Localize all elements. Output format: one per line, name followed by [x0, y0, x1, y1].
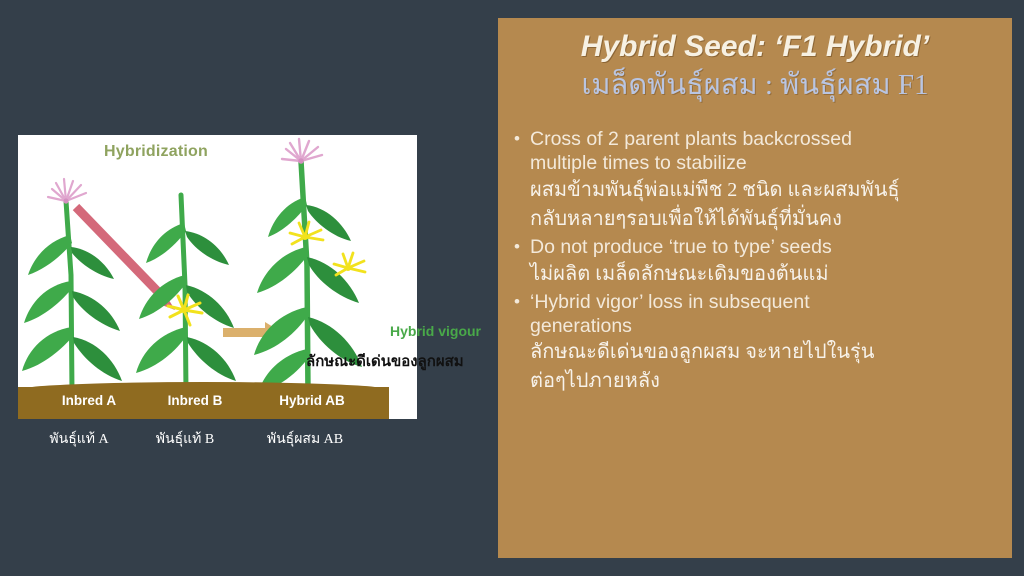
- bullet-text-en-line: generations: [530, 315, 996, 339]
- bullet-block: •‘Hybrid vigor’ loss in subsequentgenera…: [514, 291, 996, 397]
- bullet-text-en-line: Cross of 2 parent plants backcrossed: [530, 128, 996, 152]
- bullet-list: •Cross of 2 parent plants backcrossedmul…: [514, 128, 996, 396]
- bullet-text-th: ผสมข้ามพันธุ์พ่อแม่พืช 2 ชนิด และผสมพันธ…: [530, 176, 996, 234]
- bullet-text-en: ‘Hybrid vigor’ loss in subsequentgenerat…: [530, 291, 996, 339]
- bullet-text-en: Do not produce ‘true to type’ seeds: [530, 236, 996, 260]
- plant-inbred-b: [136, 195, 236, 393]
- bullet-text-th-line: กลับหลายๆรอบเพื่อให้ได้พันธุ์ที่มั่นคง: [530, 205, 996, 234]
- bullet-text-en-line: ‘Hybrid vigor’ loss in subsequent: [530, 291, 996, 315]
- bullet-item: •Cross of 2 parent plants backcrossedmul…: [514, 128, 996, 176]
- slide-title-th: เมล็ดพันธุ์ผสม : พันธุ์ผสม F1: [514, 68, 996, 103]
- plant-inbred-a: [22, 179, 122, 393]
- hybridization-diagram-image: Hybridization Hybrid vigour ลักษณะดีเด่น…: [18, 135, 417, 419]
- bullet-block: •Cross of 2 parent plants backcrossedmul…: [514, 128, 996, 234]
- bullet-text-en-line: Do not produce ‘true to type’ seeds: [530, 236, 996, 260]
- tassel-flower-ab: [282, 139, 322, 161]
- bullet-text-th-line: ผสมข้ามพันธุ์พ่อแม่พืช 2 ชนิด และผสมพันธ…: [530, 176, 996, 205]
- bullet-text-en: Cross of 2 parent plants backcrossedmult…: [530, 128, 996, 176]
- thai-caption-hybrid-ab: พันธุ์ผสม AB: [240, 428, 370, 450]
- bullet-item: •Do not produce ‘true to type’ seeds: [514, 236, 996, 260]
- bullet-text-en-line: multiple times to stabilize: [530, 152, 996, 176]
- soil-label-hybrid-ab: Hybrid AB: [250, 393, 374, 408]
- bullet-item: •‘Hybrid vigor’ loss in subsequentgenera…: [514, 291, 996, 339]
- hybrid-vigour-label-th: ลักษณะดีเด่นของลูกผสม: [306, 349, 464, 373]
- soil-label-inbred-b: Inbred B: [140, 393, 250, 408]
- silk-flower-ab-lower: [334, 253, 365, 275]
- bullet-text-th-line: ลักษณะดีเด่นของลูกผสม จะหายไปในรุ่น: [530, 338, 996, 367]
- hybrid-vigour-label-en: Hybrid vigour: [390, 323, 481, 339]
- soil-label-inbred-a: Inbred A: [34, 393, 144, 408]
- bullet-dot-icon: •: [514, 236, 530, 258]
- slide-content-panel: Hybrid Seed: ‘F1 Hybrid’ เมล็ดพันธุ์ผสม …: [498, 18, 1012, 558]
- bullet-text-th: ไม่ผลิต เมล็ดลักษณะเดิมของต้นแม่: [530, 260, 996, 289]
- diagram-title: Hybridization: [104, 143, 208, 161]
- thai-caption-inbred-b: พันธุ์แท้ B: [130, 428, 240, 450]
- bullet-text-th-line: ต่อๆไปภายหลัง: [530, 367, 996, 396]
- bullet-text-th: ลักษณะดีเด่นของลูกผสม จะหายไปในรุ่นต่อๆไ…: [530, 338, 996, 396]
- slide-title-en: Hybrid Seed: ‘F1 Hybrid’: [514, 30, 996, 64]
- thai-caption-inbred-a: พันธุ์แท้ A: [24, 428, 134, 450]
- bullet-dot-icon: •: [514, 291, 530, 313]
- bullet-dot-icon: •: [514, 128, 530, 150]
- tassel-flower-a: [48, 179, 86, 201]
- bullet-block: •Do not produce ‘true to type’ seedsไม่ผ…: [514, 236, 996, 289]
- bullet-text-th-line: ไม่ผลิต เมล็ดลักษณะเดิมของต้นแม่: [530, 260, 996, 289]
- diagram-illustration: [18, 135, 417, 419]
